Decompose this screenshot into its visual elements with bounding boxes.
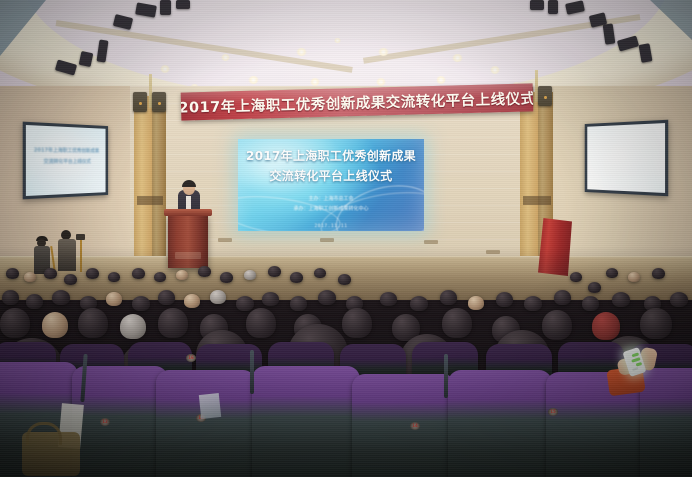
podium-top	[164, 209, 212, 216]
audience-head	[592, 312, 620, 340]
audience-head	[318, 290, 336, 305]
chat-bubble	[632, 367, 638, 371]
led-title-line2: 交流转化平台上线仪式	[269, 167, 392, 184]
led-subtitle-line1: 主办：上海市总工会	[308, 195, 353, 203]
camera-icon	[76, 234, 85, 240]
audience-head	[628, 272, 640, 282]
seat-number-badge: 12	[100, 418, 110, 426]
audience-head	[42, 312, 68, 338]
audience-head	[132, 268, 145, 279]
seat-armrest	[444, 354, 448, 398]
seat-front-row[interactable]	[156, 370, 256, 477]
led-title-line1: 2017年上海职工优秀创新成果	[246, 147, 416, 164]
led-content: 2017年上海职工优秀创新成果 交流转化平台上线仪式 主办：上海市总工会 承办：…	[238, 139, 424, 231]
audience-head	[268, 266, 281, 277]
audience-head	[570, 272, 582, 282]
audience-head	[588, 282, 601, 293]
side-screen-left-subtitle: 交流转化平台上线仪式	[26, 158, 106, 165]
audience-head	[176, 270, 188, 280]
stage-light-icon	[176, 0, 190, 9]
seat-number-badge: 14	[410, 422, 420, 430]
downlight-icon	[490, 66, 500, 74]
audience-head	[342, 308, 372, 338]
pillar-left-shelf	[137, 196, 163, 205]
audience-head	[26, 294, 43, 309]
wall-vent	[320, 238, 334, 242]
ceiling-corner-left	[0, 0, 46, 56]
audience-head	[2, 290, 19, 305]
audience-head	[86, 268, 99, 279]
audience-head	[468, 296, 484, 310]
wall-vent	[424, 240, 438, 244]
audience-area: 12 13 14 15 16	[0, 246, 692, 477]
loudspeaker-icon	[538, 86, 552, 106]
seat-front-row[interactable]	[352, 374, 456, 477]
stage-light-icon	[160, 0, 171, 15]
audience-head	[314, 268, 326, 278]
seat-front-row[interactable]	[448, 370, 552, 477]
wall-vent	[218, 238, 232, 242]
audience-head	[290, 272, 303, 283]
audience-head	[542, 310, 572, 340]
audience-head	[652, 268, 665, 279]
pillar-right-shelf	[523, 196, 551, 205]
audience-head	[154, 272, 166, 282]
downlight-icon	[452, 54, 463, 62]
seat-number-text: 16	[186, 354, 196, 362]
audience-head	[52, 290, 70, 305]
seat-number-badge: 15	[548, 408, 558, 416]
audience-head	[244, 270, 256, 280]
led-display-screen: 2017年上海职工优秀创新成果 交流转化平台上线仪式 主办：上海市总工会 承办：…	[238, 139, 424, 231]
audience-head	[220, 272, 233, 283]
downlight-icon	[334, 38, 341, 43]
audience-head	[78, 308, 108, 338]
side-screen-left-title: 2017年上海职工优秀创新成果	[26, 146, 106, 154]
seat-number-text: 12	[100, 418, 110, 426]
audience-head	[246, 308, 276, 338]
speaker-person-hair	[182, 180, 196, 187]
seat-number-text: 14	[410, 422, 420, 430]
audience-head	[108, 272, 120, 282]
downlight-icon	[310, 78, 320, 86]
seat-front-row[interactable]	[640, 368, 692, 477]
downlight-icon	[378, 48, 389, 56]
chat-bubble	[635, 362, 642, 367]
downlight-icon	[296, 48, 307, 56]
downlight-icon	[221, 54, 230, 61]
audience-head	[290, 296, 307, 311]
loudspeaker-icon	[152, 92, 166, 112]
audience-head	[132, 296, 150, 311]
downlight-icon	[248, 76, 259, 84]
stage-light-icon	[548, 0, 558, 14]
led-date: 2017.11.11	[314, 224, 347, 229]
audience-head	[440, 290, 457, 305]
audience-head	[120, 314, 146, 339]
audience-head	[24, 272, 36, 282]
audience-head	[612, 292, 630, 307]
audience-head	[640, 308, 672, 339]
audience-head	[554, 290, 571, 305]
ceiling-corner-right	[650, 0, 692, 40]
led-subtitle-line2: 承办：上海职工创新成果转化中心	[293, 205, 368, 213]
side-projection-screen-left: 2017年上海职工优秀创新成果 交流转化平台上线仪式	[23, 122, 108, 200]
audience-head	[184, 294, 200, 308]
audience-head	[210, 290, 226, 304]
audience-head	[158, 308, 188, 338]
downlight-icon	[160, 65, 170, 73]
audience-head	[338, 274, 351, 285]
seat-tag-white	[199, 393, 221, 419]
speaker-person-shirt	[186, 196, 191, 209]
seat-number-text: 15	[548, 408, 558, 416]
seat-front-row[interactable]	[252, 366, 360, 477]
audience-head	[262, 292, 279, 306]
audience-head	[606, 268, 618, 278]
audience-head	[106, 292, 122, 306]
screen-glare	[585, 120, 669, 197]
side-projection-screen-right	[585, 120, 669, 197]
photo-scene: 2017年上海职工优秀创新成果 交流转化平台上线仪式 2017年上海职工优秀创新…	[0, 0, 692, 477]
audience-head	[496, 292, 513, 307]
bag-handle	[26, 422, 62, 445]
seat-armrest	[250, 350, 254, 394]
audience-head	[6, 268, 19, 279]
audience-head	[380, 292, 397, 306]
loudspeaker-icon	[133, 92, 147, 112]
seat-front-row[interactable]	[72, 366, 168, 477]
audience-head	[670, 292, 688, 307]
audience-head	[410, 296, 428, 311]
audience-head	[158, 290, 175, 305]
stage-light-icon	[530, 0, 544, 10]
audience-head	[582, 296, 599, 311]
audience-head	[198, 266, 211, 277]
audience-head	[442, 308, 472, 338]
audience-head	[0, 308, 30, 338]
audience-head	[524, 296, 542, 311]
event-banner-text: 2017年上海职工优秀创新成果交流转化平台上线仪式	[181, 87, 534, 117]
audience-head	[44, 268, 57, 279]
downlight-icon	[376, 78, 386, 86]
audience-head	[64, 274, 77, 285]
audience-head	[236, 296, 254, 311]
downlight-icon	[436, 76, 446, 84]
seat-number-badge: 16	[186, 354, 196, 362]
